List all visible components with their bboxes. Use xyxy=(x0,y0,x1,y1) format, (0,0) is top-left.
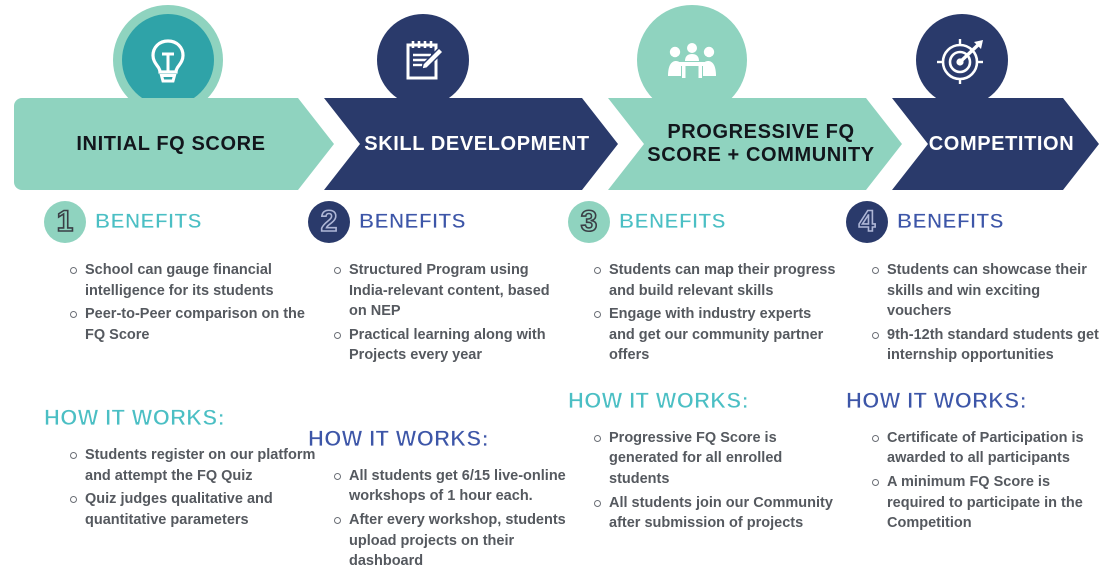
target-dart-icon xyxy=(936,34,988,86)
list-item: After every workshop, students upload pr… xyxy=(334,510,570,572)
stage-1-how-list: Students register on our platform and at… xyxy=(70,445,316,530)
list-item: 9th-12th standard students get internshi… xyxy=(872,325,1108,366)
list-item: Students can map their progress and buil… xyxy=(594,260,840,301)
stage-1-banner[interactable]: INITIAL FQ SCORE xyxy=(14,98,334,190)
list-item: Quiz judges qualitative and quantitative… xyxy=(70,489,316,530)
stage-4-how-list: Certificate of Participation is awarded … xyxy=(872,428,1108,534)
group-meeting-icon xyxy=(664,34,720,86)
stage-4-banner[interactable]: COMPETITION xyxy=(892,98,1099,190)
stage-2-benefits-list: Structured Program using India-relevant … xyxy=(334,260,570,366)
list-item: Certificate of Participation is awarded … xyxy=(872,428,1108,469)
list-item: All students get 6/15 live-online worksh… xyxy=(334,466,570,507)
stage-3-how-title: HOW IT WORKS: xyxy=(568,388,840,414)
stage-3-icon-badge xyxy=(646,14,738,106)
stage-icon-row xyxy=(0,0,1113,110)
list-item: A minimum FQ Score is required to partic… xyxy=(872,472,1108,534)
stage-1-banner-label: INITIAL FQ SCORE xyxy=(76,133,265,156)
stage-3-banner[interactable]: PROGRESSIVE FQ SCORE + COMMUNITY xyxy=(608,98,902,190)
stage-1-benefits-list: School can gauge financial intelligence … xyxy=(70,260,316,345)
list-item: All students join our Community after su… xyxy=(594,493,840,534)
stage-1-benefits-title: BENEFITS xyxy=(95,210,202,234)
infographic-root: INITIAL FQ SCORE SKILL DEVELOPMENT PROGR… xyxy=(0,0,1113,583)
list-item: Students register on our platform and at… xyxy=(70,445,316,486)
list-item: Engage with industry experts and get our… xyxy=(594,304,840,366)
stage-2-banner-label: SKILL DEVELOPMENT xyxy=(364,133,589,156)
stage-2-benefits-title: BENEFITS xyxy=(359,210,466,234)
list-item: Structured Program using India-relevant … xyxy=(334,260,570,322)
stage-2-banner[interactable]: SKILL DEVELOPMENT xyxy=(324,98,618,190)
stage-1-benefits-header: 1 BENEFITS xyxy=(44,198,316,246)
stage-4-number-badge: 4 xyxy=(846,201,888,243)
stage-3-banner-label: PROGRESSIVE FQ SCORE + COMMUNITY xyxy=(642,121,880,167)
stage-4-how-title: HOW IT WORKS: xyxy=(846,388,1108,414)
stage-4-how-block: HOW IT WORKS: Certificate of Participati… xyxy=(846,388,1108,534)
list-item: Practical learning along with Projects e… xyxy=(334,325,570,366)
stage-3-benefits-title: BENEFITS xyxy=(619,210,726,234)
stage-4-benefits-header: 4 BENEFITS xyxy=(846,198,1108,246)
stage-2-how-title: HOW IT WORKS: xyxy=(308,426,570,452)
stage-2-how-block: HOW IT WORKS: All students get 6/15 live… xyxy=(308,426,570,572)
list-item: Peer-to-Peer comparison on the FQ Score xyxy=(70,304,316,345)
list-item: School can gauge financial intelligence … xyxy=(70,260,316,301)
stage-4-benefits-title: BENEFITS xyxy=(897,210,1004,234)
stage-3-how-list: Progressive FQ Score is generated for al… xyxy=(594,428,840,534)
stage-3-how-block: HOW IT WORKS: Progressive FQ Score is ge… xyxy=(568,388,840,534)
stage-4-benefits-list: Students can showcase their skills and w… xyxy=(872,260,1108,366)
stage-3-number-badge: 3 xyxy=(568,201,610,243)
stage-4-banner-label: COMPETITION xyxy=(929,133,1075,156)
stage-4-column: 4 BENEFITS Students can showcase their s… xyxy=(846,198,1108,537)
stage-1-how-block: HOW IT WORKS: Students register on our p… xyxy=(44,405,316,530)
stage-4-icon-badge xyxy=(916,14,1008,106)
stage-3-column: 3 BENEFITS Students can map their progre… xyxy=(568,198,840,537)
stage-2-column: 2 BENEFITS Structured Program using Indi… xyxy=(308,198,570,575)
stage-2-icon-badge xyxy=(377,14,469,106)
stage-1-icon-badge xyxy=(122,14,214,106)
stage-1-how-title: HOW IT WORKS: xyxy=(44,405,316,431)
stage-2-how-list: All students get 6/15 live-online worksh… xyxy=(334,466,570,572)
stage-2-benefits-header: 2 BENEFITS xyxy=(308,198,570,246)
stage-banner: INITIAL FQ SCORE SKILL DEVELOPMENT PROGR… xyxy=(14,98,1099,190)
stage-1-column: 1 BENEFITS School can gauge financial in… xyxy=(44,198,316,534)
notepad-pencil-icon xyxy=(397,34,449,86)
stage-3-benefits-header: 3 BENEFITS xyxy=(568,198,840,246)
lightbulb-icon xyxy=(143,35,193,85)
stage-detail-columns: 1 BENEFITS School can gauge financial in… xyxy=(0,198,1113,583)
list-item: Students can showcase their skills and w… xyxy=(872,260,1108,322)
stage-2-number-badge: 2 xyxy=(308,201,350,243)
stage-3-benefits-list: Students can map their progress and buil… xyxy=(594,260,840,366)
list-item: Progressive FQ Score is generated for al… xyxy=(594,428,840,490)
stage-1-number-badge: 1 xyxy=(44,201,86,243)
